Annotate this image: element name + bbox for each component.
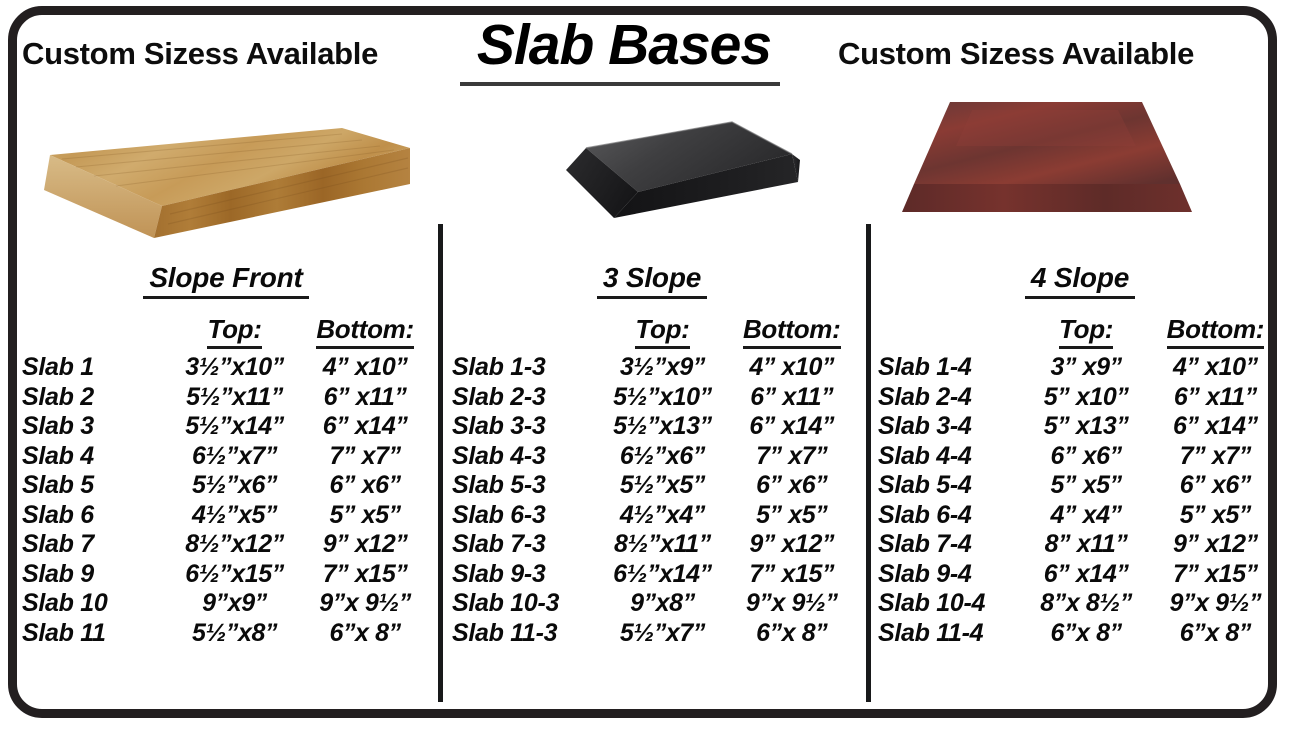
column-divider-1: [438, 224, 443, 702]
row-top-size: 5½”x6”: [169, 471, 300, 501]
row-label: Slab 2: [22, 383, 169, 413]
row-top-size: 6½”x7”: [169, 442, 300, 472]
row-label: Slab 4: [22, 442, 169, 472]
row-bottom-size: 6” x11”: [300, 383, 430, 413]
row-label: Slab 11-4: [878, 619, 1023, 649]
table-row: Slab 109”x9”9”x 9½”: [22, 589, 430, 619]
table-row: Slab 10-48”x 8½”9”x 9½”: [878, 589, 1282, 619]
row-top-size: 5½”x7”: [597, 619, 727, 649]
row-bottom-size: 5” x5”: [727, 501, 856, 531]
table-row: Slab 64½”x5”5” x5”: [22, 501, 430, 531]
column-divider-2: [866, 224, 871, 702]
row-label: Slab 3: [22, 412, 169, 442]
row-bottom-size: 7” x7”: [1149, 442, 1282, 472]
row-top-size: 4½”x5”: [169, 501, 300, 531]
row-bottom-size: 9” x12”: [300, 530, 430, 560]
table-row: Slab 2-35½”x10”6” x11”: [452, 383, 856, 413]
row-bottom-size: 9” x12”: [727, 530, 856, 560]
table-row: Slab 5-45” x5”6” x6”: [878, 471, 1282, 501]
row-bottom-size: 6”x 8”: [727, 619, 856, 649]
row-bottom-size: 7” x15”: [727, 560, 856, 590]
row-bottom-size: 6” x14”: [300, 412, 430, 442]
col-header-top: Top:: [1023, 314, 1148, 353]
row-label: Slab 5-3: [452, 471, 597, 501]
table-row: Slab 11-35½”x7”6”x 8”: [452, 619, 856, 649]
row-top-size: 5½”x10”: [597, 383, 727, 413]
table-row: Slab 10-39”x8”9”x 9½”: [452, 589, 856, 619]
row-top-size: 5½”x13”: [597, 412, 727, 442]
row-top-size: 8”x 8½”: [1023, 589, 1148, 619]
table-row: Slab 6-44” x4”5” x5”: [878, 501, 1282, 531]
product-label-slope-front: Slope Front: [20, 262, 432, 299]
row-bottom-size: 6” x6”: [300, 471, 430, 501]
row-top-size: 5½”x14”: [169, 412, 300, 442]
row-top-size: 6½”x6”: [597, 442, 727, 472]
row-top-size: 6”x 8”: [1023, 619, 1148, 649]
row-top-size: 5” x5”: [1023, 471, 1148, 501]
table-row: Slab 13½”x10”4” x10”: [22, 353, 430, 383]
mahogany-slab-icon: [892, 84, 1204, 232]
row-label: Slab 6-4: [878, 501, 1023, 531]
row-label: Slab 4-4: [878, 442, 1023, 472]
row-bottom-size: 7” x15”: [1149, 560, 1282, 590]
table-row: Slab 1-33½”x9”4” x10”: [452, 353, 856, 383]
row-bottom-size: 6” x11”: [1149, 383, 1282, 413]
row-label: Slab 10-3: [452, 589, 597, 619]
table-row: Slab 9-36½”x14”7” x15”: [452, 560, 856, 590]
row-label: Slab 10: [22, 589, 169, 619]
row-top-size: 6” x6”: [1023, 442, 1148, 472]
size-table-3-slope: Top: Bottom: Slab 1-33½”x9”4” x10” Slab …: [452, 314, 856, 648]
row-top-size: 9”x9”: [169, 589, 300, 619]
row-top-size: 3” x9”: [1023, 353, 1148, 383]
row-bottom-size: 5” x5”: [300, 501, 430, 531]
product-image-4-slope: [874, 88, 1286, 258]
row-bottom-size: 4” x10”: [300, 353, 430, 383]
product-label-4-slope: 4 Slope: [874, 262, 1286, 299]
row-label: Slab 9: [22, 560, 169, 590]
row-top-size: 4½”x4”: [597, 501, 727, 531]
col-header-top: Top:: [597, 314, 727, 353]
table-row: Slab 25½”x11”6” x11”: [22, 383, 430, 413]
row-label: Slab 7-4: [878, 530, 1023, 560]
row-bottom-size: 6” x11”: [727, 383, 856, 413]
product-panel-slope-front: Slope Front: [20, 0, 432, 299]
table-row: Slab 115½”x8”6”x 8”: [22, 619, 430, 649]
product-image-3-slope: [446, 88, 858, 258]
row-top-size: 5½”x11”: [169, 383, 300, 413]
row-label: Slab 9-4: [878, 560, 1023, 590]
table-row: Slab 2-45” x10”6” x11”: [878, 383, 1282, 413]
product-image-slope-front: [20, 88, 432, 258]
row-top-size: 3½”x9”: [597, 353, 727, 383]
row-top-size: 5½”x8”: [169, 619, 300, 649]
row-bottom-size: 9”x 9½”: [727, 589, 856, 619]
col-header-bottom: Bottom:: [1149, 314, 1282, 353]
table-row: Slab 96½”x15”7” x15”: [22, 560, 430, 590]
product-panel-4-slope: 4 Slope: [874, 0, 1286, 299]
row-label: Slab 1-3: [452, 353, 597, 383]
row-bottom-size: 7” x15”: [300, 560, 430, 590]
row-bottom-size: 7” x7”: [300, 442, 430, 472]
table-row: Slab 55½”x6”6” x6”: [22, 471, 430, 501]
wood-slab-icon: [42, 110, 414, 250]
table-row: Slab 7-38½”x11”9” x12”: [452, 530, 856, 560]
table-row: Slab 78½”x12”9” x12”: [22, 530, 430, 560]
black-slab-icon: [556, 108, 806, 248]
row-label: Slab 5-4: [878, 471, 1023, 501]
table-row: Slab 3-35½”x13”6” x14”: [452, 412, 856, 442]
row-bottom-size: 5” x5”: [1149, 501, 1282, 531]
row-top-size: 5½”x5”: [597, 471, 727, 501]
table-row: Slab 3-45” x13”6” x14”: [878, 412, 1282, 442]
row-bottom-size: 6” x6”: [727, 471, 856, 501]
row-label: Slab 2-4: [878, 383, 1023, 413]
table-header-row: Top: Bottom:: [22, 314, 430, 353]
row-label: Slab 4-3: [452, 442, 597, 472]
table-row: Slab 7-48” x11”9” x12”: [878, 530, 1282, 560]
row-top-size: 8½”x11”: [597, 530, 727, 560]
table-header-row: Top: Bottom:: [452, 314, 856, 353]
slab-bases-poster: Custom Sizess Available Slab Bases Custo…: [0, 0, 1293, 732]
row-label: Slab 11-3: [452, 619, 597, 649]
table-row: Slab 6-34½”x4”5” x5”: [452, 501, 856, 531]
row-bottom-size: 6”x 8”: [1149, 619, 1282, 649]
row-bottom-size: 9”x 9½”: [300, 589, 430, 619]
col-header-bottom: Bottom:: [300, 314, 430, 353]
row-top-size: 5” x13”: [1023, 412, 1148, 442]
product-label-3-slope: 3 Slope: [446, 262, 858, 299]
row-bottom-size: 6” x14”: [727, 412, 856, 442]
col-header-name: [22, 314, 169, 353]
col-header-bottom: Bottom:: [727, 314, 856, 353]
table-row: Slab 4-36½”x6”7” x7”: [452, 442, 856, 472]
row-top-size: 8½”x12”: [169, 530, 300, 560]
row-label: Slab 10-4: [878, 589, 1023, 619]
table-row: Slab 1-43” x9”4” x10”: [878, 353, 1282, 383]
table-row: Slab 46½”x7”7” x7”: [22, 442, 430, 472]
row-label: Slab 3-3: [452, 412, 597, 442]
row-label: Slab 11: [22, 619, 169, 649]
row-label: Slab 2-3: [452, 383, 597, 413]
row-top-size: 6½”x14”: [597, 560, 727, 590]
table-row: Slab 11-46”x 8”6”x 8”: [878, 619, 1282, 649]
table-header-row: Top: Bottom:: [878, 314, 1282, 353]
row-bottom-size: 7” x7”: [727, 442, 856, 472]
row-label: Slab 5: [22, 471, 169, 501]
row-label: Slab 1-4: [878, 353, 1023, 383]
row-bottom-size: 9”x 9½”: [1149, 589, 1282, 619]
col-header-name: [452, 314, 597, 353]
row-top-size: 4” x4”: [1023, 501, 1148, 531]
row-label: Slab 1: [22, 353, 169, 383]
table-row: Slab 35½”x14”6” x14”: [22, 412, 430, 442]
row-bottom-size: 9” x12”: [1149, 530, 1282, 560]
row-top-size: 5” x10”: [1023, 383, 1148, 413]
size-table-slope-front: Top: Bottom: Slab 13½”x10”4” x10” Slab 2…: [22, 314, 430, 648]
row-bottom-size: 6” x14”: [1149, 412, 1282, 442]
table-row: Slab 4-46” x6”7” x7”: [878, 442, 1282, 472]
row-label: Slab 7: [22, 530, 169, 560]
table-row: Slab 5-35½”x5”6” x6”: [452, 471, 856, 501]
row-label: Slab 3-4: [878, 412, 1023, 442]
row-bottom-size: 6”x 8”: [300, 619, 430, 649]
row-top-size: 6½”x15”: [169, 560, 300, 590]
row-top-size: 9”x8”: [597, 589, 727, 619]
row-label: Slab 6: [22, 501, 169, 531]
row-bottom-size: 4” x10”: [727, 353, 856, 383]
product-panel-3-slope: 3 Slope: [446, 0, 858, 299]
row-bottom-size: 6” x6”: [1149, 471, 1282, 501]
row-top-size: 6” x14”: [1023, 560, 1148, 590]
row-label: Slab 7-3: [452, 530, 597, 560]
col-header-name: [878, 314, 1023, 353]
row-bottom-size: 4” x10”: [1149, 353, 1282, 383]
size-table-4-slope: Top: Bottom: Slab 1-43” x9”4” x10” Slab …: [878, 314, 1282, 648]
table-row: Slab 9-46” x14”7” x15”: [878, 560, 1282, 590]
row-top-size: 3½”x10”: [169, 353, 300, 383]
row-label: Slab 6-3: [452, 501, 597, 531]
row-top-size: 8” x11”: [1023, 530, 1148, 560]
row-label: Slab 9-3: [452, 560, 597, 590]
col-header-top: Top:: [169, 314, 300, 353]
